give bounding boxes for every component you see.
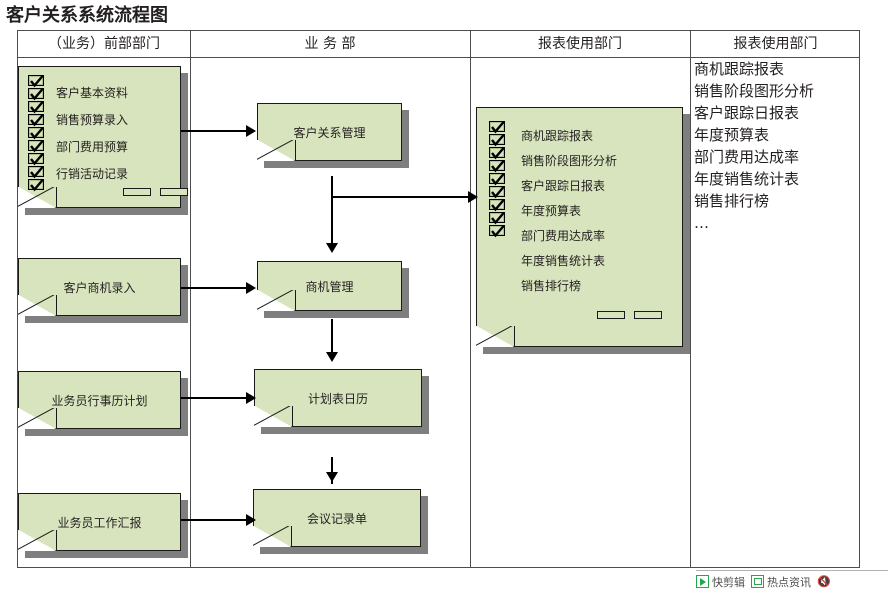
checkmark-icon[interactable]: [489, 186, 505, 197]
checkmark-icon[interactable]: [28, 101, 44, 112]
form-line: 商机跟踪报表: [521, 124, 617, 149]
news-icon: [751, 575, 764, 588]
report-list-item: 部门费用达成率: [694, 146, 814, 168]
report-list-item: 销售阶段图形分析: [694, 80, 814, 102]
report-name-list: 商机跟踪报表销售阶段图形分析客户跟踪日报表年度预算表部门费用达成率年度销售统计表…: [694, 58, 814, 234]
page-fold-corner: [254, 406, 293, 427]
connector-line: [331, 176, 333, 248]
checkmark-icon[interactable]: [489, 160, 505, 171]
doc-customer-basic-form[interactable]: 客户基本资料销售预算录入部门费用预算行销活动记录: [18, 66, 181, 208]
checkmark-icon[interactable]: [489, 173, 505, 184]
checkmark-icon[interactable]: [489, 199, 505, 210]
doc-buttons-1[interactable]: [123, 188, 188, 196]
checkmark-icon[interactable]: [28, 140, 44, 151]
doc-crm[interactable]: 客户关系管理: [257, 103, 402, 161]
connector-arrow: [468, 191, 478, 203]
checkmark-icon[interactable]: [28, 88, 44, 99]
bottom-taskbar: 快剪辑 热点资讯 🔇: [696, 570, 888, 590]
doc-button[interactable]: [160, 188, 188, 196]
connector-arrow: [246, 392, 256, 404]
doc-report-form[interactable]: 商机跟踪报表销售阶段图形分析客户跟踪日报表年度预算表部门费用达成率年度销售统计表…: [476, 107, 683, 347]
report-list-item: 客户跟踪日报表: [694, 102, 814, 124]
doc-customer-opportunity-entry[interactable]: 客户商机录入: [18, 258, 181, 316]
col-header-report-users: 报表使用部门: [470, 33, 690, 56]
col-header-sales-dept: 业 务 部: [190, 33, 470, 56]
form-line-list-1: 客户基本资料销售预算录入部门费用预算行销活动记录: [56, 80, 128, 188]
col-header-front-office: （业务）前部部门: [18, 33, 190, 56]
checkbox-column-3: [489, 121, 505, 236]
connector-arrow: [246, 282, 256, 294]
connector-arrow: [326, 472, 338, 482]
checkmark-icon[interactable]: [28, 114, 44, 125]
form-line: 年度销售统计表: [521, 249, 617, 274]
checkmark-icon[interactable]: [489, 225, 505, 236]
form-line: 销售预算录入: [56, 107, 128, 134]
page-fold-corner: [257, 140, 296, 161]
doc-salesperson-work-report[interactable]: 业务员工作汇报: [18, 493, 181, 551]
column-divider-1: [190, 31, 191, 567]
form-line: 部门费用达成率: [521, 224, 617, 249]
form-line: 客户跟踪日报表: [521, 174, 617, 199]
doc-salesperson-calendar-plan[interactable]: 业务员行事历计划: [18, 371, 181, 429]
page-fold-corner: [18, 295, 57, 316]
taskbar-hot-news[interactable]: 热点资讯: [751, 574, 811, 590]
form-line: 行销活动记录: [56, 161, 128, 188]
form-line: 销售阶段图形分析: [521, 149, 617, 174]
checkmark-icon[interactable]: [489, 134, 505, 145]
connector-line: [331, 196, 476, 198]
doc-buttons-3[interactable]: [597, 311, 662, 319]
form-line: 年度预算表: [521, 199, 617, 224]
column-divider-2: [470, 31, 471, 567]
taskbar-hot-news-label: 热点资讯: [767, 574, 811, 590]
page-fold-corner: [476, 326, 515, 347]
connector-line: [181, 519, 248, 521]
page-fold-corner: [18, 187, 57, 208]
speaker-mute-icon[interactable]: 🔇: [817, 575, 831, 588]
form-line: 部门费用预算: [56, 134, 128, 161]
page-fold-corner: [18, 530, 57, 551]
report-list-item: 商机跟踪报表: [694, 58, 814, 80]
checkmark-icon[interactable]: [489, 147, 505, 158]
page-fold-corner: [257, 290, 296, 311]
form-line: 销售排行榜: [521, 274, 617, 299]
taskbar-quick-edit-label: 快剪辑: [712, 574, 745, 590]
connector-line: [181, 397, 248, 399]
play-icon: [696, 575, 709, 588]
doc-plan-calendar[interactable]: 计划表日历: [254, 369, 422, 427]
form-line-list-3: 商机跟踪报表销售阶段图形分析客户跟踪日报表年度预算表部门费用达成率年度销售统计表…: [521, 124, 617, 299]
report-list-item: 销售排行榜: [694, 190, 814, 212]
connector-arrow: [246, 125, 256, 137]
form-line: 客户基本资料: [56, 80, 128, 107]
checkmark-icon[interactable]: [489, 121, 505, 132]
connector-arrow: [326, 352, 338, 362]
report-list-item: …: [694, 212, 814, 234]
checkmark-icon[interactable]: [28, 153, 44, 164]
doc-opportunity-management[interactable]: 商机管理: [257, 261, 402, 311]
col-header-report-users-2: 报表使用部门: [690, 33, 861, 56]
page-title: 客户关系系统流程图: [6, 1, 168, 27]
checkmark-icon[interactable]: [489, 212, 505, 223]
report-list-item: 年度预算表: [694, 124, 814, 146]
report-list-item: 年度销售统计表: [694, 168, 814, 190]
column-divider-3: [690, 31, 691, 567]
checkmark-icon[interactable]: [28, 75, 44, 86]
doc-meeting-minutes[interactable]: 会议记录单: [253, 489, 421, 547]
doc-button[interactable]: [597, 311, 625, 319]
checkmark-icon[interactable]: [28, 127, 44, 138]
doc-button[interactable]: [123, 188, 151, 196]
page-fold-corner: [18, 408, 57, 429]
connector-arrow: [246, 514, 256, 526]
doc-button[interactable]: [634, 311, 662, 319]
connector-line: [181, 130, 248, 132]
checkmark-icon[interactable]: [28, 166, 44, 177]
checkbox-column-1: [28, 75, 44, 190]
page-fold-corner: [253, 526, 292, 547]
taskbar-quick-edit[interactable]: 快剪辑: [696, 574, 745, 590]
connector-arrow: [326, 243, 338, 253]
connector-line: [181, 287, 248, 289]
